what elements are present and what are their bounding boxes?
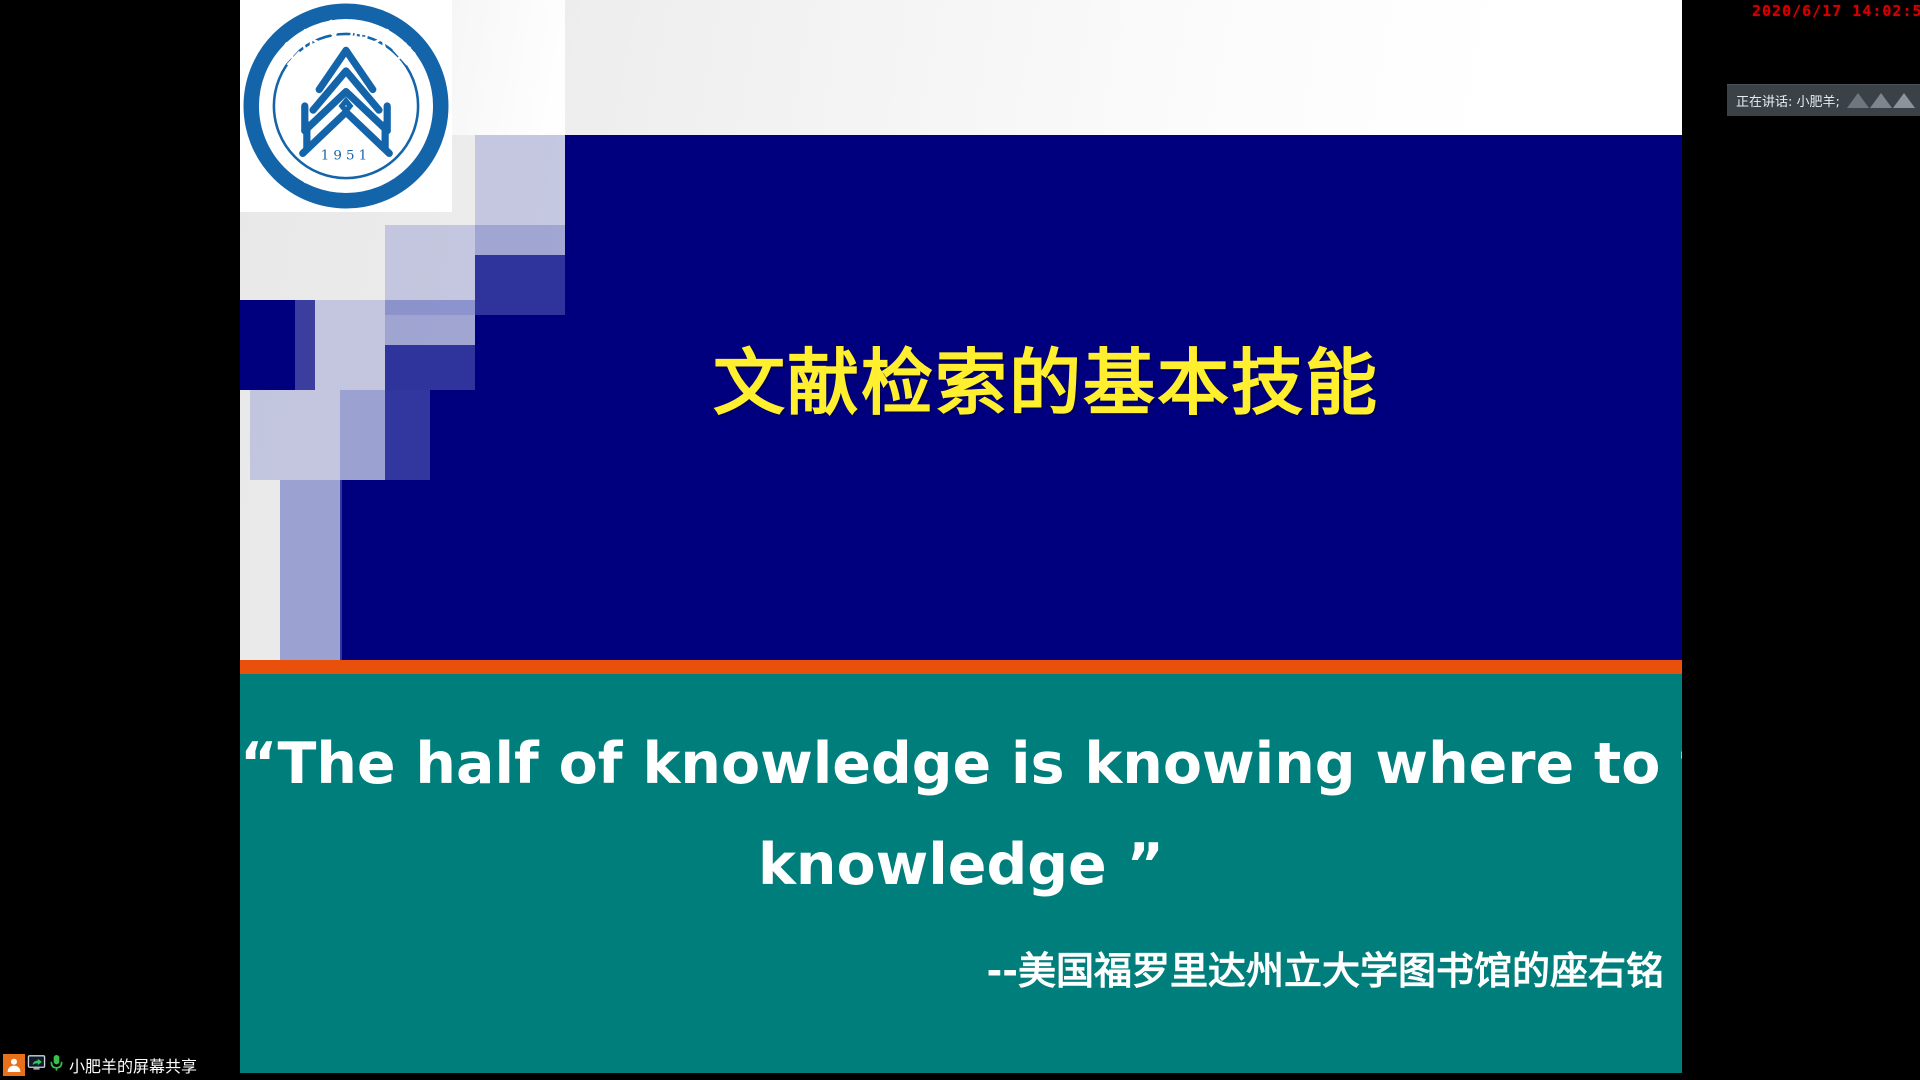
taskbar[interactable]: 小肥羊的屏幕共享 (0, 1050, 240, 1080)
quote-line-2: knowledge ” (240, 837, 1682, 894)
mosaic-tile-8 (280, 480, 342, 660)
university-logo: 1951 重庆交通大学 CHONGQING JIAOTONG UNIVERSIT… (240, 0, 452, 212)
screen-share-icon[interactable] (27, 1053, 46, 1077)
desktop-screen: 1951 重庆交通大学 CHONGQING JIAOTONG UNIVERSIT… (0, 0, 1920, 1080)
navy-block-step-c (340, 480, 385, 660)
quote-attribution: --美国福罗里达州立大学图书馆的座右铭 (240, 940, 1682, 995)
person-icon (3, 1054, 25, 1076)
speaking-indicator[interactable]: 正在讲话: 小肥羊; (1727, 84, 1920, 116)
quote-block: “The half of knowledge is knowing where … (240, 674, 1682, 1073)
svg-text:1951: 1951 (321, 149, 372, 164)
timestamp-overlay: 2020/6/17 14:02:53 (1752, 2, 1920, 20)
microphone-icon[interactable] (48, 1053, 65, 1077)
speaking-indicator-label: 正在讲话: 小肥羊; (1736, 91, 1840, 110)
mosaic-tile-7 (340, 390, 430, 480)
quote-line-1: “The half of knowledge is knowing where … (240, 736, 1682, 793)
taskbar-label: 小肥羊的屏幕共享 (69, 1053, 197, 1077)
mosaic-tile-5 (385, 300, 475, 390)
navy-block-main (565, 135, 1682, 660)
mosaic-tile-3 (475, 225, 565, 315)
audio-wave-icon (1847, 93, 1915, 108)
mosaic-tile-4 (295, 300, 385, 390)
slide-upper-region: 1951 重庆交通大学 CHONGQING JIAOTONG UNIVERSIT… (240, 0, 1682, 660)
mosaic-tile-6 (250, 390, 340, 480)
university-seal-icon: 1951 重庆交通大学 CHONGQING JIAOTONG UNIVERSIT… (243, 3, 449, 209)
mosaic-tile-1 (475, 135, 565, 225)
navy-block-step-a (475, 255, 565, 660)
shared-slide: 1951 重庆交通大学 CHONGQING JIAOTONG UNIVERSIT… (240, 0, 1682, 1073)
orange-divider (240, 660, 1682, 674)
